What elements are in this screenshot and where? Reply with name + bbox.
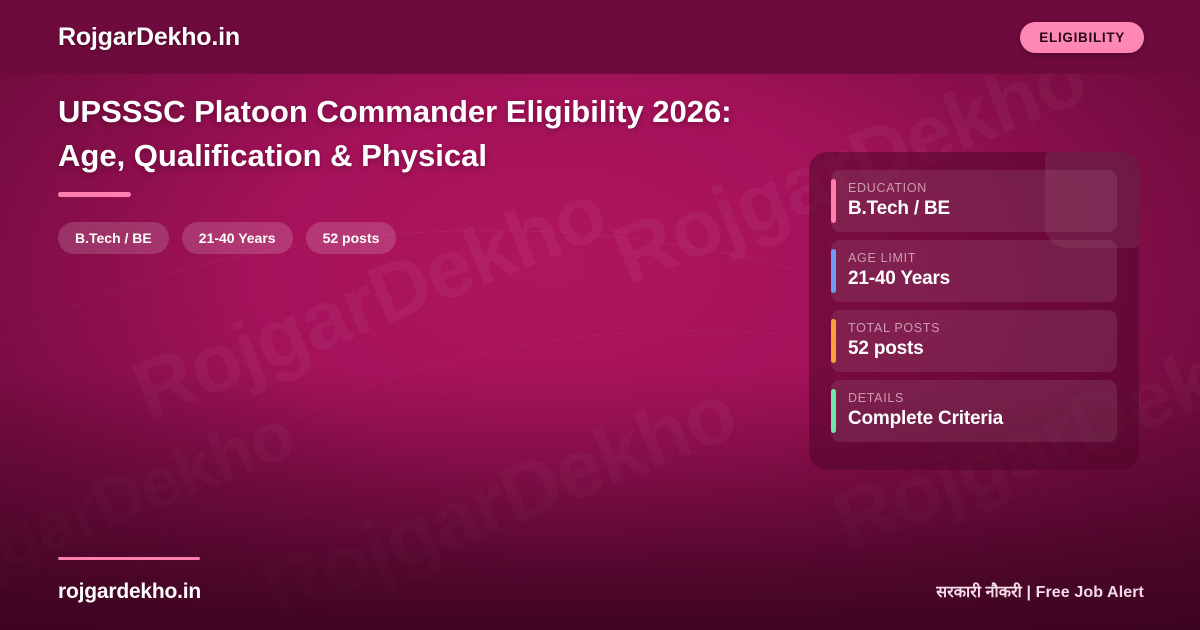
row-accent-bar — [831, 389, 836, 433]
row-value: B.Tech / BE — [848, 198, 1103, 220]
row-accent-bar — [831, 249, 836, 293]
eligibility-card: EDUCATION B.Tech / BE AGE LIMIT 21-40 Ye… — [809, 152, 1139, 470]
title-accent-rule — [58, 192, 131, 197]
status-badge: ELIGIBILITY — [1020, 22, 1144, 53]
card-row-education: EDUCATION B.Tech / BE — [831, 170, 1117, 232]
footer-accent-rule — [58, 557, 200, 560]
card-row-age-limit: AGE LIMIT 21-40 Years — [831, 240, 1117, 302]
footer-site-url[interactable]: rojgardekho.in — [58, 580, 201, 604]
row-label: AGE LIMIT — [848, 251, 1103, 265]
row-label: DETAILS — [848, 391, 1103, 405]
header-bar: RojgarDekho.in ELIGIBILITY — [0, 0, 1200, 74]
page-title: UPSSSC Platoon Commander Eligibility 202… — [58, 90, 788, 178]
chip-age: 21-40 Years — [182, 222, 293, 254]
footer-left: rojgardekho.in — [58, 557, 201, 630]
row-accent-bar — [831, 179, 836, 223]
chip-row: B.Tech / BE 21-40 Years 52 posts — [58, 222, 396, 254]
card-row-total-posts: TOTAL POSTS 52 posts — [831, 310, 1117, 372]
row-value: 21-40 Years — [848, 268, 1103, 290]
row-value: Complete Criteria — [848, 408, 1103, 430]
row-accent-bar — [831, 319, 836, 363]
footer-bar: rojgardekho.in सरकारी नौकरी | Free Job A… — [0, 510, 1200, 630]
card-row-list: EDUCATION B.Tech / BE AGE LIMIT 21-40 Ye… — [831, 170, 1117, 442]
row-value: 52 posts — [848, 338, 1103, 360]
banner-root: RojgarDekho RojgarDekho RojgarDekho Rojg… — [0, 0, 1200, 630]
footer-tagline: सरकारी नौकरी | Free Job Alert — [936, 580, 1144, 630]
brand-logo[interactable]: RojgarDekho.in — [58, 23, 240, 52]
row-label: EDUCATION — [848, 181, 1103, 195]
row-label: TOTAL POSTS — [848, 321, 1103, 335]
card-row-details: DETAILS Complete Criteria — [831, 380, 1117, 442]
chip-education: B.Tech / BE — [58, 222, 169, 254]
chip-posts: 52 posts — [306, 222, 397, 254]
